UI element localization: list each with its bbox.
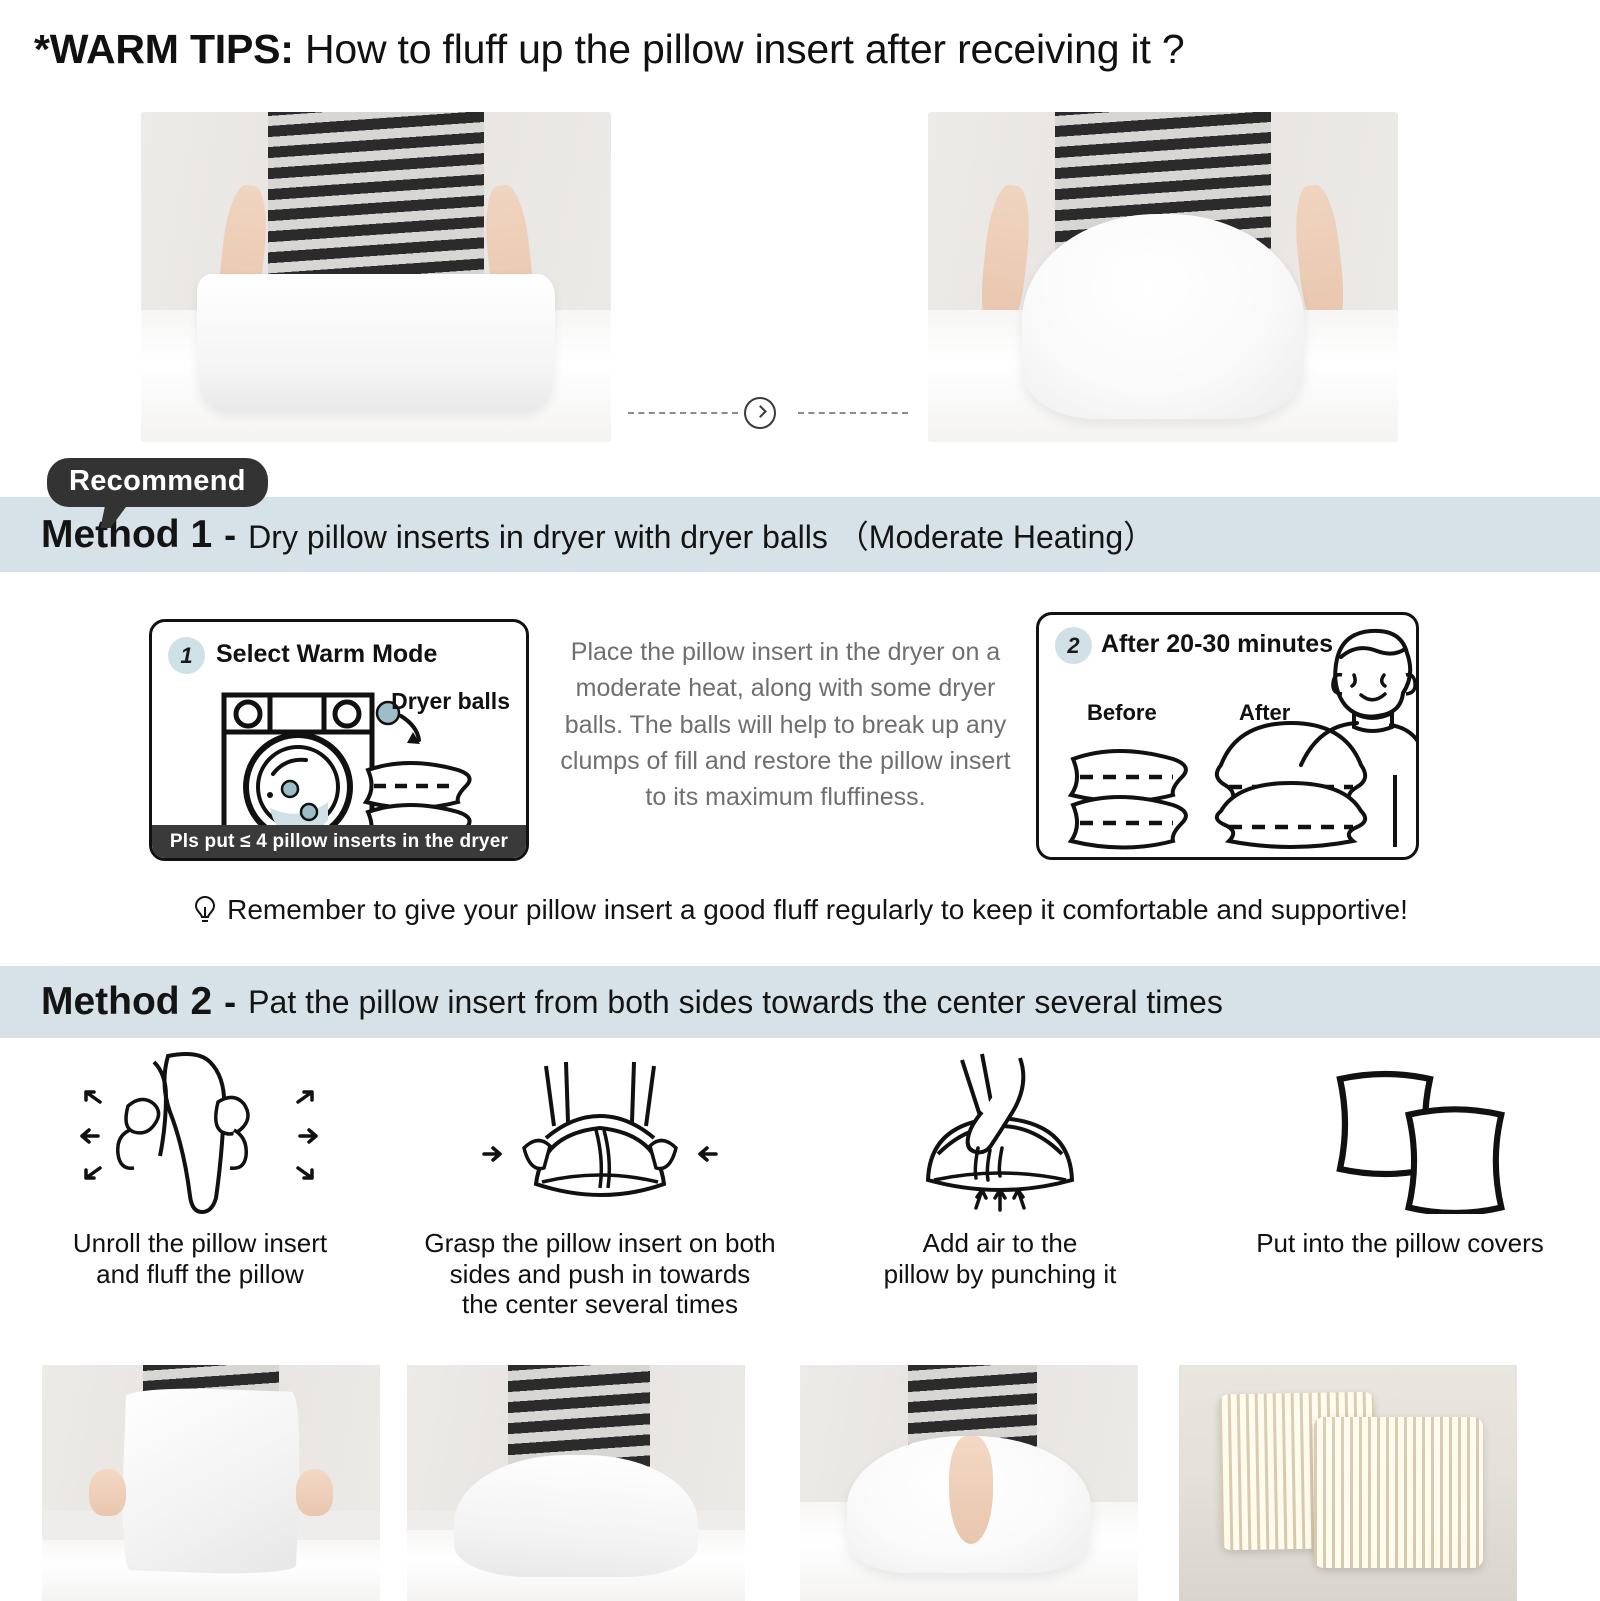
step-caption: Grasp the pillow insert on both sides an…: [424, 1220, 775, 1320]
hands-push-sides-icon: [450, 1038, 750, 1220]
infographic-page: *WARM TIPS: How to fluff up the pillow i…: [0, 0, 1600, 1601]
method-2-steps: Unroll the pillow insert and fluff the p…: [0, 1038, 1600, 1320]
method-2-step-2: Grasp the pillow insert on both sides an…: [400, 1038, 800, 1320]
method-2-step-3: Add air to the pillow by punching it: [800, 1038, 1200, 1320]
reminder-line: Remember to give your pillow insert a go…: [0, 894, 1600, 926]
connector-dash-right: [798, 412, 908, 414]
step-caption: Add air to the pillow by punching it: [884, 1220, 1117, 1289]
step-caption: Unroll the pillow insert and fluff the p…: [73, 1220, 327, 1289]
hands-unroll-pillow-icon: [50, 1038, 350, 1220]
method-2-dash: -: [224, 981, 236, 1023]
step-caption: Put into the pillow covers: [1256, 1220, 1544, 1259]
photo-cushion-covers: [1179, 1365, 1517, 1601]
card-select-warm-mode: 1 Select Warm Mode: [149, 619, 529, 861]
method-1-header: Method 1 - Dry pillow inserts in dryer w…: [0, 497, 1600, 572]
before-after-connector: [628, 397, 908, 429]
method-1-paragraph: Place the pillow insert in the dryer on …: [553, 634, 1018, 815]
photo-unroll-and-fluff: [42, 1365, 380, 1601]
method-2-header: Method 2 - Pat the pillow insert from bo…: [0, 966, 1600, 1038]
recommend-badge: Recommend: [47, 458, 268, 507]
connector-dash-left: [628, 412, 738, 414]
hands-punch-pillow-icon: [850, 1038, 1150, 1220]
page-title: *WARM TIPS: How to fluff up the pillow i…: [34, 26, 1184, 73]
dryer-balls-label: Dryer balls: [391, 688, 510, 715]
photo-pillow-before: [141, 112, 611, 442]
method-1-dash: -: [224, 514, 236, 556]
card-after-20-30-minutes: 2 After 20-30 minutes Before After: [1036, 612, 1419, 860]
page-title-bold: *WARM TIPS:: [34, 26, 294, 72]
person-with-pillows-icon: [1039, 615, 1419, 860]
method-1-body: 1 Select Warm Mode: [0, 572, 1600, 966]
photo-pillow-after: [928, 112, 1398, 442]
method-2-body: Unroll the pillow insert and fluff the p…: [0, 1038, 1600, 1601]
photo-push-from-sides: [407, 1365, 745, 1601]
chevron-right-circle-icon: [744, 397, 776, 429]
reminder-text: Remember to give your pillow insert a go…: [227, 894, 1408, 926]
two-cushions-icon: [1250, 1038, 1550, 1220]
photo-punch-pillow: [800, 1365, 1138, 1601]
bottom-photo-row: [0, 1365, 1600, 1601]
method-2-step-1: Unroll the pillow insert and fluff the p…: [0, 1038, 400, 1320]
method-2-description: Pat the pillow insert from both sides to…: [248, 984, 1223, 1021]
method-1-description: Dry pillow inserts in dryer with dryer b…: [248, 512, 1155, 558]
top-photo-row: [0, 112, 1600, 442]
page-title-rest: How to fluff up the pillow insert after …: [294, 26, 1185, 72]
method-2-step-4: Put into the pillow covers: [1200, 1038, 1600, 1320]
dryer-capacity-note: Pls put ≤ 4 pillow inserts in the dryer: [152, 825, 526, 858]
lightbulb-icon: [192, 895, 218, 925]
method-2-label: Method 2: [41, 980, 212, 1024]
